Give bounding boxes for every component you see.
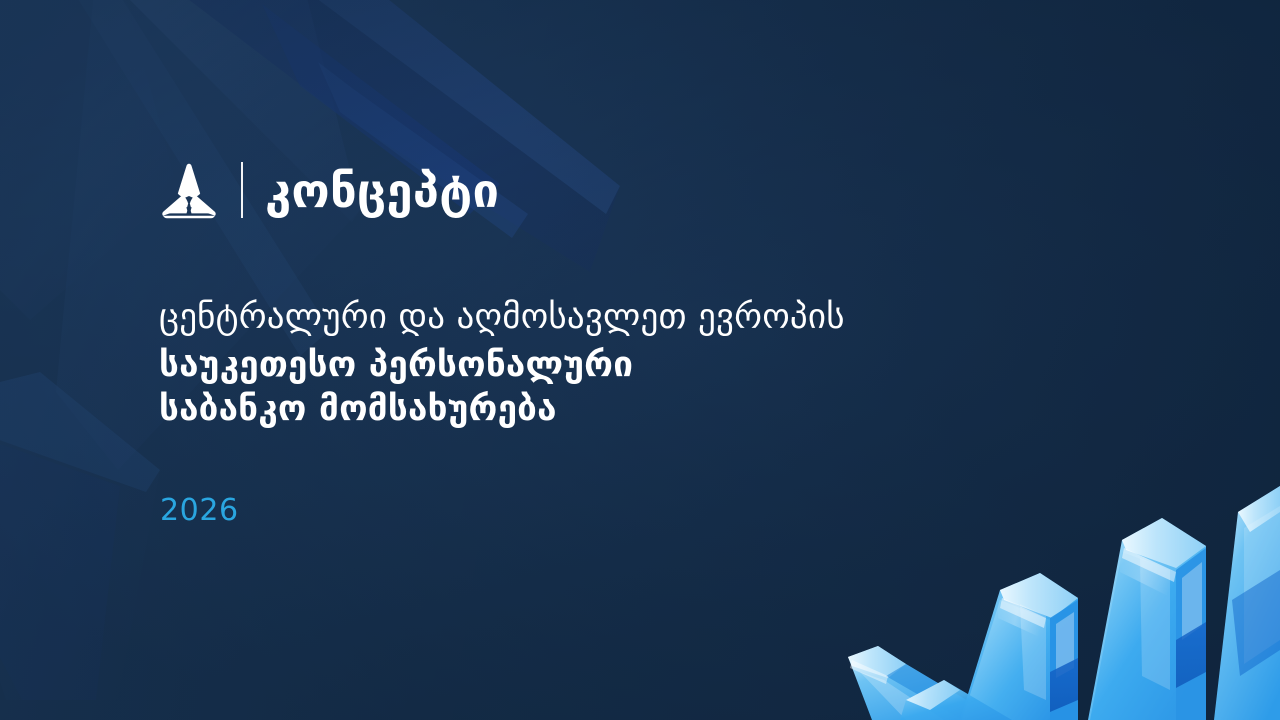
slide-content: კონცეპტი ცენტრალური და აღმოსავლეთ ევროპი… — [158, 0, 1138, 720]
brand-wordmark: კონცეპტი — [265, 168, 499, 215]
concept-triangle-propeller-logo-icon — [158, 160, 220, 222]
headline-line-3: საბანკო მომსახურება — [159, 392, 1119, 427]
headline-line-1: ცენტრალური და აღმოსავლეთ ევროპის — [159, 300, 1119, 335]
slide-year: 2026 — [160, 496, 239, 526]
presentation-title-slide: კონცეპტი ცენტრალური და აღმოსავლეთ ევროპი… — [0, 0, 1280, 720]
headline-line-2: საუკეთესო პერსონალური — [159, 348, 1119, 383]
logo-divider — [241, 162, 243, 218]
brand-logo-lockup: კონცეპტი — [158, 155, 499, 225]
slide-headline: ცენტრალური და აღმოსავლეთ ევროპის საუკეთე… — [159, 300, 1119, 436]
